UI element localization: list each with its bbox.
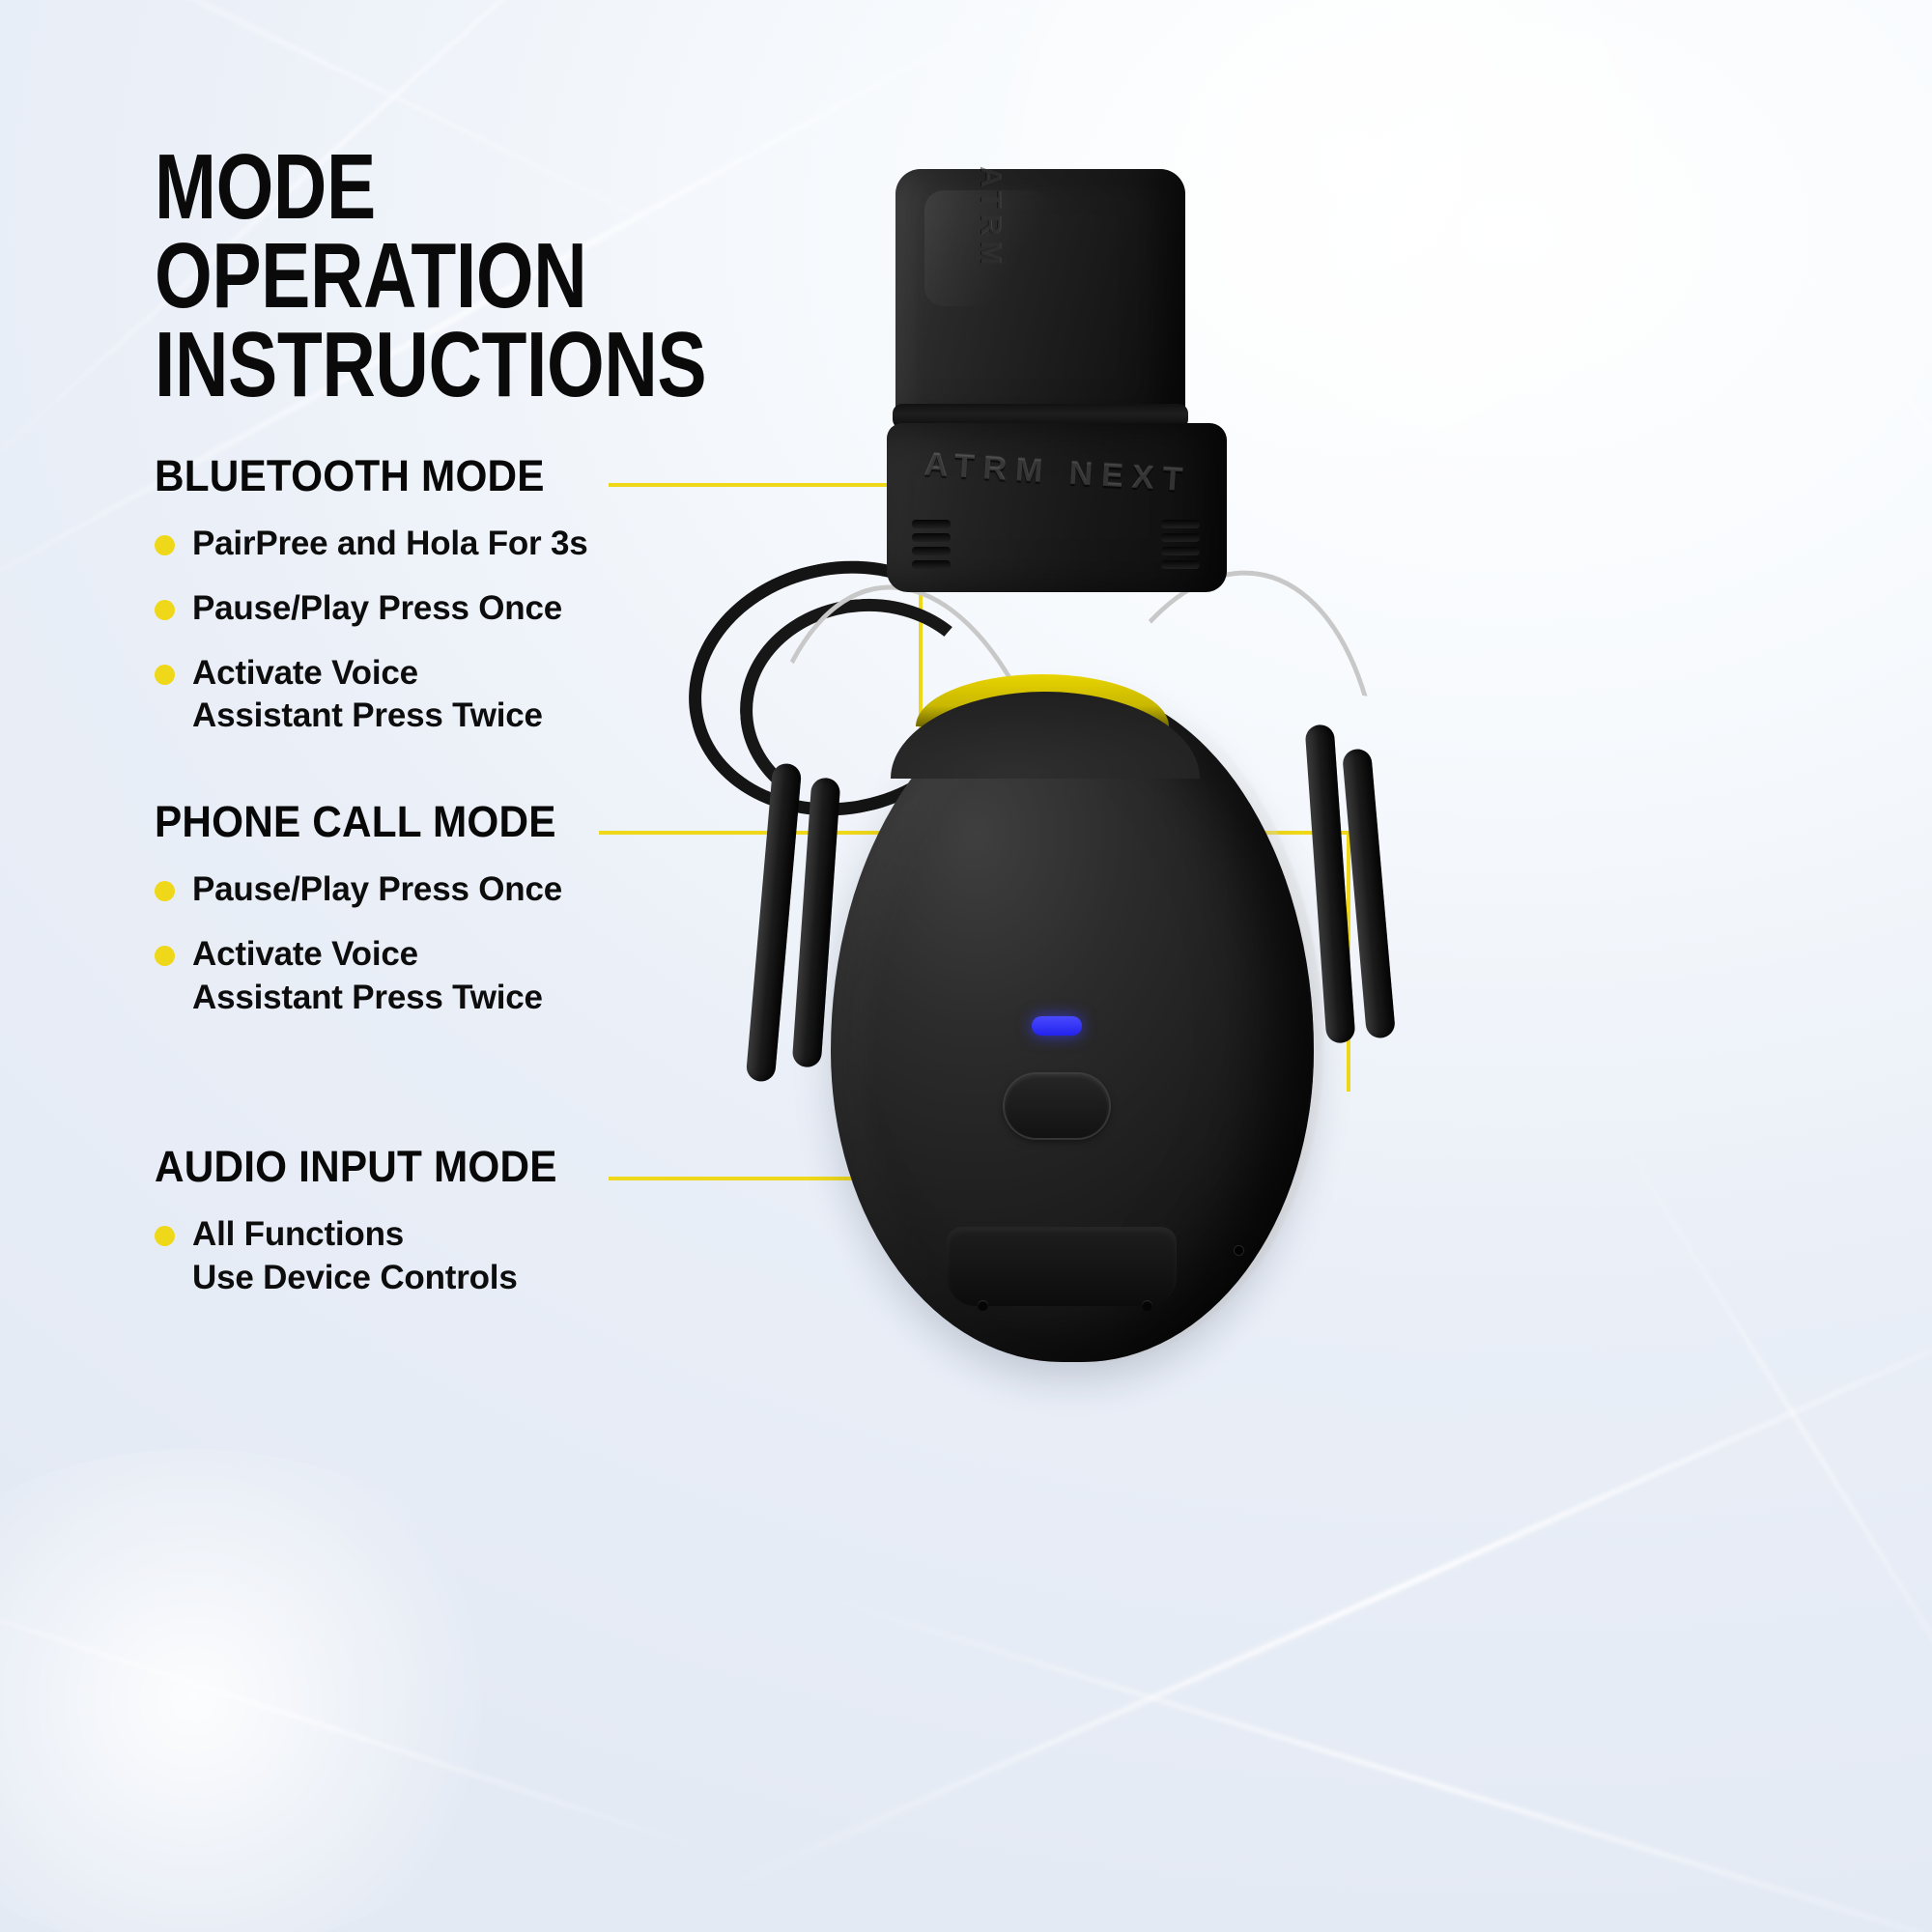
bullet-dot-icon [155, 1226, 175, 1246]
bullet-dot-icon [155, 665, 175, 685]
screw-icon [1142, 1300, 1152, 1311]
page-title-line-1: MODE OPERATION [155, 135, 586, 327]
list-item: Pause/Play Press Once [155, 868, 582, 912]
list-item: All Functions Use Device Controls [155, 1213, 582, 1300]
product-image-ear-defenders: ATRM ATRM NEXT [667, 145, 1932, 1787]
list-item: Pause/Play Press Once [155, 587, 588, 631]
headband-vent-left [912, 520, 951, 580]
bullet-text-line-2: Use Device Controls [192, 1257, 518, 1300]
list-item: PairPree and Hola For 3s [155, 523, 588, 566]
bullet-text: Pause/Play Press Once [192, 587, 562, 631]
section-phone-call-mode: PHONE CALL MODE Pause/Play Press Once Ac… [155, 800, 582, 1040]
bullet-text: PairPree and Hola For 3s [192, 523, 588, 566]
bullet-list-phone-call: Pause/Play Press Once Activate Voice Ass… [155, 868, 582, 1019]
list-item: Activate Voice Assistant Press Twice [155, 933, 582, 1020]
bullet-list-bluetooth: PairPree and Hola For 3s Pause/Play Pres… [155, 523, 588, 738]
infographic-canvas: MODE OPERATION INSTRUCTIONS BLUETOOTH MO… [0, 0, 1932, 1932]
bullet-list-audio-input: All Functions Use Device Controls [155, 1213, 582, 1300]
section-audio-input-mode: AUDIO INPUT MODE All Functions Use Devic… [155, 1145, 582, 1321]
section-heading-audio-input: AUDIO INPUT MODE [155, 1145, 557, 1188]
list-item: Activate Voice Assistant Press Twice [155, 652, 588, 739]
bullet-text: Pause/Play Press Once [192, 868, 562, 912]
section-bluetooth-mode: BLUETOOTH MODE PairPree and Hola For 3s … [155, 454, 588, 759]
headband-top-brand-text: ATRM [974, 166, 1007, 270]
multifunction-button[interactable] [1005, 1074, 1109, 1138]
bullet-text: Activate Voice [192, 933, 543, 977]
section-heading-phone-call: PHONE CALL MODE [155, 800, 556, 843]
bullet-dot-icon [155, 881, 175, 901]
headband-top-pad [895, 169, 1185, 425]
headband-vent-right [1161, 520, 1200, 580]
screw-icon [978, 1300, 988, 1311]
ear-cup-battery-cover [947, 1227, 1177, 1306]
bullet-dot-icon [155, 946, 175, 966]
bullet-text-line-2: Assistant Press Twice [192, 695, 543, 738]
bullet-text-line-2: Assistant Press Twice [192, 977, 543, 1020]
bullet-text: Activate Voice [192, 652, 543, 696]
bullet-dot-icon [155, 600, 175, 620]
section-heading-bluetooth: BLUETOOTH MODE [155, 454, 562, 497]
bullet-text: All Functions [192, 1213, 518, 1257]
microphone-hole-icon [1235, 1246, 1243, 1255]
bullet-dot-icon [155, 535, 175, 555]
bluetooth-status-led-icon [1032, 1016, 1082, 1036]
